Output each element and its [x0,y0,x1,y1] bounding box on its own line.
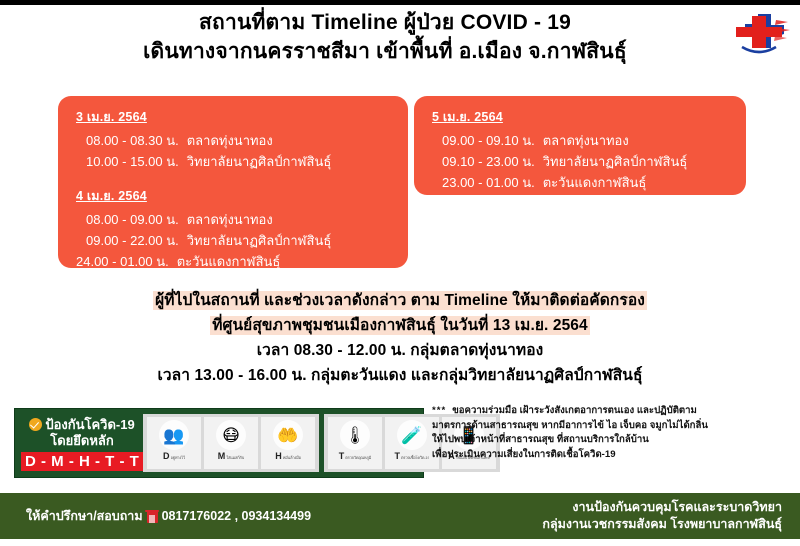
footer-org-line-2: กลุ่มงานเวชกรรมสังคม โรงพยาบาลกาฬสินธุ์ [542,516,782,533]
dmhtta-icon-letter: H [275,451,282,461]
entry-time: 08.00 - 08.30 น. [86,130,179,151]
dmhtta-icon-caption: Hหมั่นล้างมือ [275,451,301,461]
dmhtta-icon-caption: Dอยู่ห่างไว้ [163,451,185,461]
day-block: 4 เม.ย. 2564 08.00 - 09.00 น.ตลาดทุ่งนาท… [76,186,394,272]
timeline-entry: 09.00 - 09.10 น.ตลาดทุ่งนาทอง [432,130,732,151]
entry-place: ตลาดทุ่งนาทอง [187,212,273,227]
dmhtta-icon-card: 🌡 Tตรวจวัดอุณหภูมิ [328,417,382,469]
footer-bar: ให้คำปรึกษา/สอบถาม 0817176022 , 09341344… [0,493,800,539]
entry-time: 23.00 - 01.00 น. [442,172,535,193]
entry-place: วิทยาลัยนาฏศิลป์กาฬสินธุ์ [187,233,332,248]
distancing-icon: 👥 [159,420,189,450]
dmhtta-panel: ป้องกันโควิด-19 โดยยึดหลัก D - M - H - T… [14,408,424,478]
entry-time: 10.00 - 15.00 น. [86,151,179,172]
day-block: 5 เม.ย. 2564 09.00 - 09.10 น.ตลาดทุ่งนาท… [432,107,732,193]
entry-place: ตะวันแดงกาฬสินธุ์ [543,175,647,190]
dmhtta-heading: ป้องกันโควิด-19 โดยยึดหลัก D - M - H - T… [15,416,143,471]
entry-time: 08.00 - 09.00 น. [86,209,179,230]
advisory-stars: *** [432,405,446,416]
notice-line-3: เวลา 08.30 - 12.00 น. กลุ่มตลาดทุ่งนาทอง [0,338,800,363]
advisory-line-4: เพื่อประเมินความเสี่ยงในการติดเชื้อโควิด… [432,448,794,463]
dmhtta-icon-subtext: ตรวจวัดอุณหภูมิ [345,454,371,461]
screening-notice: ผู้ที่ไปในสถานที่ และช่วงเวลาดังกล่าว ตา… [0,288,800,388]
timeline-entry: 10.00 - 15.00 น.วิทยาลัยนาฏศิลป์กาฬสินธุ… [76,151,394,172]
advisory-line-3: ให้ไปพบเจ้าหน้าที่สาธารณสุข ที่สถานบริกา… [432,433,794,448]
footer-contact-label: ให้คำปรึกษา/สอบถาม [26,506,143,526]
timeline-card-left: 3 เม.ย. 2564 08.00 - 08.30 น.ตลาดทุ่งนาท… [58,96,408,268]
thermometer-icon: 🌡 [340,420,370,450]
dmhtta-icon-card: 😷 Mใส่แมสก์กัน [204,417,258,469]
dmhtta-icon-caption: Mใส่แมสก์กัน [218,451,245,461]
dmhtta-icon-subtext: อยู่ห่างไว้ [171,454,185,461]
entry-time: 09.10 - 23.00 น. [442,151,535,172]
page-title: สถานที่ตาม Timeline ผู้ป่วย COVID - 19 เ… [0,8,800,67]
entry-place: ตะวันแดงกาฬสินธุ์ [177,254,281,269]
advisory-line-2: มาตรการด้านสาธารณสุข หากมีอาการไข้ ไอ เจ… [432,419,794,434]
timeline-entry: 23.00 - 01.00 น.ตะวันแดงกาฬสินธุ์ [432,172,732,193]
entry-time: 09.00 - 09.10 น. [442,130,535,151]
timeline-card-right: 5 เม.ย. 2564 09.00 - 09.10 น.ตลาดทุ่งนาท… [414,96,746,195]
dmhtta-icon-subtext: หมั่นล้างมือ [283,454,301,461]
notice-line-2-text: ที่ศูนย์สุขภาพชุมชนเมืองกาฬสินธุ์ ในวันท… [210,316,590,335]
dmhtta-icon-letter: T [339,451,345,461]
entry-time: 09.00 - 22.00 น. [86,230,179,251]
notice-line-2: ที่ศูนย์สุขภาพชุมชนเมืองกาฬสินธุ์ ในวันท… [0,313,800,338]
dmhtta-icon-group-1: 👥 Dอยู่ห่างไว้ 😷 Mใส่แมสก์กัน 🤲 Hหมั่นล้… [143,414,319,472]
dmhtta-heading-line-1: ป้องกันโควิด-19 [21,416,143,433]
footer-org-line-1: งานป้องกันควบคุมโรคและระบาดวิทยา [542,499,782,516]
title-line-2: เดินทางจากนครราชสีมา เข้าพื้นที่ อ.เมือง… [60,37,710,67]
timeline-entry: 09.10 - 23.00 น.วิทยาลัยนาฏศิลป์กาฬสินธุ… [432,151,732,172]
advisory-line-1-text: ขอความร่วมมือ เฝ้าระวังสังเกตอาการตนเอง … [452,405,697,416]
dmhtta-letters: D - M - H - T - T - A [21,452,143,471]
top-black-bar [0,0,800,5]
notice-line-1-text: ผู้ที่ไปในสถานที่ และช่วงเวลาดังกล่าว ตา… [153,291,647,310]
day-date: 4 เม.ย. 2564 [76,186,394,206]
notice-line-4: เวลา 13.00 - 16.00 น. กลุ่มตะวันแดง และก… [0,363,800,388]
timeline-entry: 24.00 - 01.00 น.ตะวันแดงกาฬสินธุ์ [76,251,394,272]
dmhtta-icon-letter: M [218,451,226,461]
entry-place: ตลาดทุ่งนาทอง [187,133,273,148]
day-block: 3 เม.ย. 2564 08.00 - 08.30 น.ตลาดทุ่งนาท… [76,107,394,172]
footer-phone-numbers: 0817176022 , 0934134499 [162,509,311,523]
dmhtta-icon-card: 👥 Dอยู่ห่างไว้ [147,417,201,469]
dmhtta-icon-subtext: ใส่แมสก์กัน [226,454,244,461]
footer-organization: งานป้องกันควบคุมโรคและระบาดวิทยา กลุ่มงา… [542,499,782,533]
check-circle-icon [29,418,42,431]
dmhtta-icon-letter: D [163,451,170,461]
timeline-entry: 09.00 - 22.00 น.วิทยาลัยนาฏศิลป์กาฬสินธุ… [76,230,394,251]
timeline-entry: 08.00 - 08.30 น.ตลาดทุ่งนาทอง [76,130,394,151]
title-line-1: สถานที่ตาม Timeline ผู้ป่วย COVID - 19 [60,8,710,37]
entry-place: ตลาดทุ่งนาทอง [543,133,629,148]
dmhtta-icon-caption: Tตรวจเชื้อโควิด-19 [395,451,430,461]
advisory-text: ***ขอความร่วมมือ เฝ้าระวังสังเกตอาการตนเ… [432,404,794,462]
hospital-cross-logo [728,10,790,58]
mask-icon: 😷 [216,420,246,450]
entry-place: วิทยาลัยนาฏศิลป์กาฬสินธุ์ [543,154,688,169]
dmhtta-icon-subtext: ตรวจเชื้อโควิด-19 [401,454,429,461]
entry-time: 24.00 - 01.00 น. [76,251,169,272]
dmhtta-heading-line-2: โดยยึดหลัก [21,433,143,449]
day-date: 3 เม.ย. 2564 [76,107,394,127]
day-date: 5 เม.ย. 2564 [432,107,732,127]
testing-icon: 🧪 [397,420,427,450]
dmhtta-icon-letter: T [395,451,401,461]
dmhtta-icon-card: 🧪 Tตรวจเชื้อโควิด-19 [385,417,439,469]
dmhtta-icon-card: 🤲 Hหมั่นล้างมือ [261,417,315,469]
dmhtta-icon-caption: Tตรวจวัดอุณหภูมิ [339,451,372,461]
entry-place: วิทยาลัยนาฏศิลป์กาฬสินธุ์ [187,154,332,169]
telephone-icon [147,510,158,523]
notice-line-1: ผู้ที่ไปในสถานที่ และช่วงเวลาดังกล่าว ตา… [0,288,800,313]
timeline-entry: 08.00 - 09.00 น.ตลาดทุ่งนาทอง [76,209,394,230]
handwash-icon: 🤲 [273,420,303,450]
dmhtta-heading-line-1-text: ป้องกันโควิด-19 [45,417,134,432]
footer-contact: ให้คำปรึกษา/สอบถาม 0817176022 , 09341344… [26,506,311,526]
advisory-line-1: ***ขอความร่วมมือ เฝ้าระวังสังเกตอาการตนเ… [432,404,794,419]
